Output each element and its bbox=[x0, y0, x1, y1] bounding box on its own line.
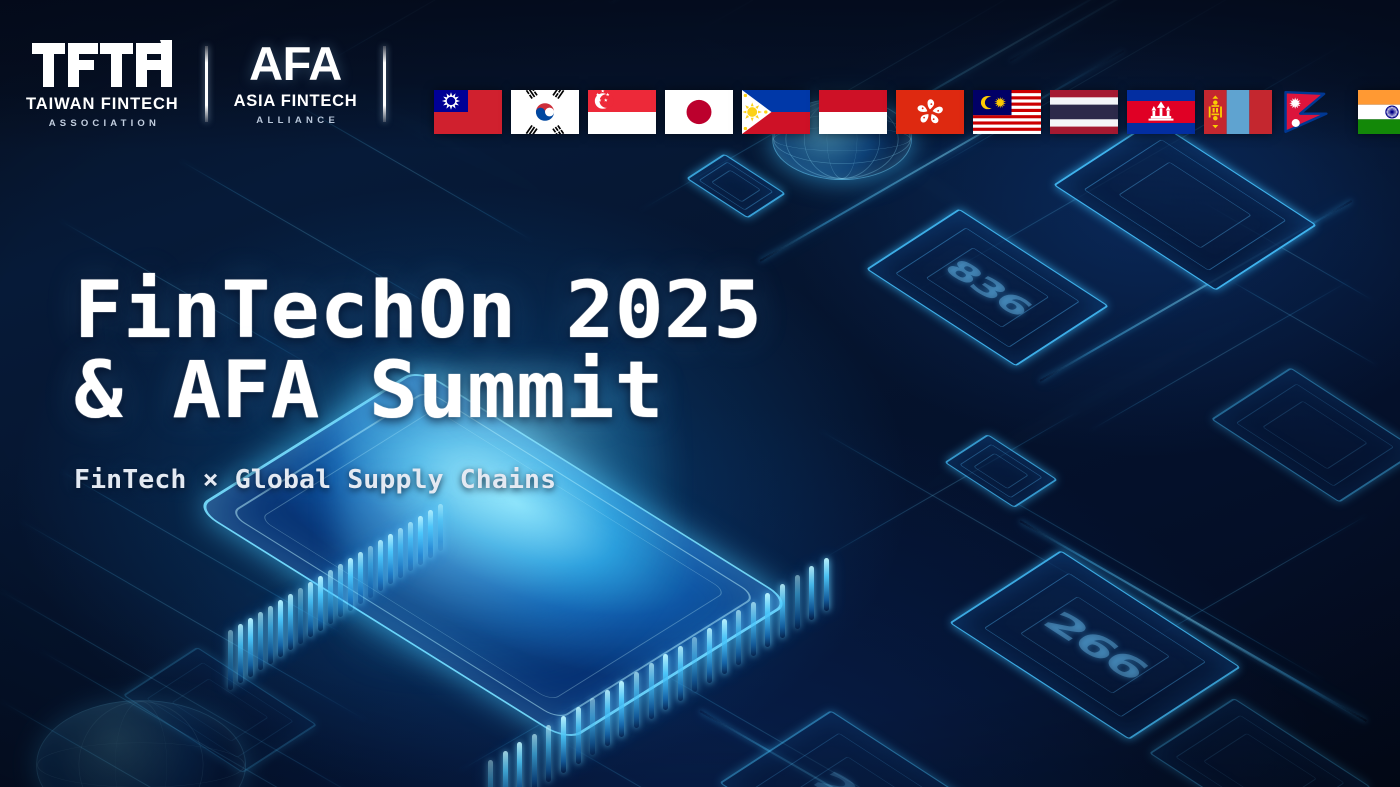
cpu-pin bbox=[765, 593, 770, 647]
cpu-pin bbox=[308, 582, 313, 637]
cpu-pin bbox=[692, 637, 697, 692]
cpu-pin bbox=[408, 522, 413, 571]
cpu-pin bbox=[605, 690, 610, 746]
flag-np bbox=[1281, 90, 1349, 134]
cpu-pin bbox=[378, 540, 383, 591]
cpu-pin bbox=[751, 602, 756, 656]
page-title: FinTechOn 2025 & AFA Summit bbox=[74, 272, 762, 431]
flag-in bbox=[1358, 90, 1400, 134]
cpu-pin bbox=[288, 594, 293, 650]
cpu-pin bbox=[809, 566, 814, 620]
cpu-pin bbox=[388, 534, 393, 584]
cpu-pin bbox=[663, 654, 668, 710]
cpu-pin bbox=[438, 504, 443, 551]
cpu-pin bbox=[619, 681, 624, 737]
flag-kr bbox=[511, 90, 579, 134]
cpu-pin bbox=[678, 646, 683, 701]
cpu-pin bbox=[590, 698, 595, 755]
pcb-chip bbox=[1240, 360, 1390, 510]
flag-my bbox=[973, 90, 1041, 134]
cpu-pin bbox=[328, 570, 333, 624]
cpu-pin bbox=[780, 584, 785, 638]
flag-sg bbox=[588, 90, 656, 134]
pcb-chip: 266 bbox=[990, 540, 1200, 750]
flag-th bbox=[1050, 90, 1118, 134]
flag-hk bbox=[896, 90, 964, 134]
cpu-pin bbox=[398, 528, 403, 578]
logo-divider-2 bbox=[383, 46, 386, 122]
cpu-pin bbox=[348, 558, 353, 611]
flag-tw bbox=[434, 90, 502, 134]
cpu-pin bbox=[722, 619, 727, 674]
pcb-chip bbox=[700, 150, 772, 222]
flag-mn bbox=[1204, 90, 1272, 134]
cpu-pin bbox=[561, 716, 566, 773]
afa-wordmark: AFA bbox=[249, 42, 342, 87]
cpu-pin bbox=[248, 618, 253, 677]
cpu-pin bbox=[503, 751, 508, 787]
tfta-wordmark-icon bbox=[32, 40, 172, 90]
cpu-pin bbox=[358, 552, 363, 604]
cpu-pin bbox=[488, 760, 493, 787]
tfta-logo-line1: TAIWAN FINTECH bbox=[26, 95, 179, 114]
tfta-logo[interactable]: TAIWAN FINTECH ASSOCIATION bbox=[26, 40, 179, 129]
cpu-pin bbox=[634, 672, 639, 728]
cpu-pin bbox=[238, 624, 243, 683]
cpu-pin bbox=[258, 612, 263, 670]
cpu-pin bbox=[649, 663, 654, 719]
afa-logo-line2: ALLIANCE bbox=[252, 115, 339, 126]
flag-kh bbox=[1127, 90, 1195, 134]
cpu-pin bbox=[228, 630, 233, 690]
cpu-pin bbox=[576, 707, 581, 764]
cpu-pin bbox=[278, 600, 283, 657]
cpu-pin bbox=[268, 606, 273, 664]
cpu-pin bbox=[795, 575, 800, 629]
pcb-chip bbox=[960, 430, 1042, 512]
cpu-pin bbox=[546, 725, 551, 782]
cpu-pin bbox=[824, 558, 829, 611]
pcb-chip bbox=[1180, 690, 1340, 787]
afa-logo[interactable]: AFA ASIA FINTECH ALLIANCE bbox=[234, 42, 358, 126]
cpu-pin bbox=[418, 516, 423, 565]
tfta-logo-line2: ASSOCIATION bbox=[45, 118, 160, 129]
cpu-pin bbox=[318, 576, 323, 631]
member-country-flags bbox=[434, 34, 1400, 134]
afa-logo-line1: ASIA FINTECH bbox=[234, 92, 358, 111]
cpu-pin bbox=[517, 742, 522, 787]
hero-text-block: FinTechOn 2025 & AFA Summit FinTech × Gl… bbox=[74, 272, 736, 495]
cpu-pin bbox=[532, 734, 537, 787]
page-subtitle: FinTech × Global Supply Chains bbox=[74, 465, 749, 495]
cpu-pin bbox=[428, 510, 433, 558]
poster-header: TAIWAN FINTECH ASSOCIATION AFA ASIA FINT… bbox=[0, 0, 1400, 150]
cpu-pin bbox=[368, 546, 373, 598]
cpu-pin bbox=[736, 610, 741, 665]
logo-lockup-group: TAIWAN FINTECH ASSOCIATION AFA ASIA FINT… bbox=[0, 0, 1400, 134]
poster-canvas: 266836266 bbox=[0, 0, 1400, 787]
pcb-chip: 836 bbox=[900, 200, 1075, 375]
cpu-pin bbox=[298, 588, 303, 644]
flag-jp bbox=[665, 90, 733, 134]
flag-id bbox=[819, 90, 887, 134]
cpu-pin bbox=[707, 628, 712, 683]
flag-ph bbox=[742, 90, 810, 134]
logo-divider-1 bbox=[205, 46, 208, 122]
cpu-pin bbox=[338, 564, 343, 617]
